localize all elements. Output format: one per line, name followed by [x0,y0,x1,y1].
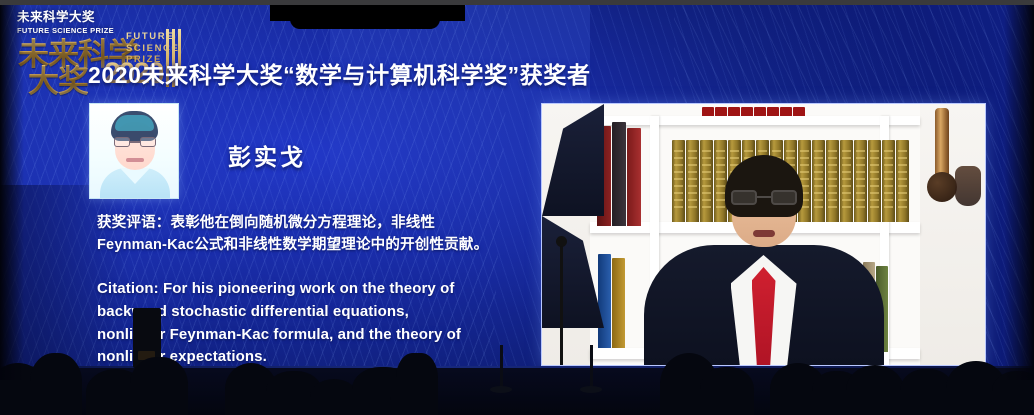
portrait-mouth [126,158,144,162]
floor-mic-stand-2 [590,345,593,391]
audience-silhouette [846,365,904,415]
speaker-mouth [753,230,775,237]
wall-lamp-icon [925,108,959,204]
lamp-base [927,172,957,202]
lamp-stem [935,108,949,178]
screen-top-bezel [0,0,1034,5]
citation-cn-line-1: 获奖评语：表彰他在倒向随机微分方程理论，非线性 [97,212,527,234]
citation-en-line-1: Citation: For his pioneering work on the… [97,278,527,301]
citation-block: 获奖评语：表彰他在倒向随机微分方程理论，非线性 Feynman-Kac公式和非线… [97,212,527,369]
vignette-right [1004,5,1034,380]
floor-mic-base-1 [490,386,512,393]
decorative-vase [955,166,981,206]
floor-mic-base-2 [580,386,602,393]
laureate-name: 彭实戈 [228,138,306,172]
speaker-glasses-icon [731,190,797,205]
books-top-red [702,107,805,116]
video-mic-head-icon [556,236,567,247]
books-lower-left [598,254,625,348]
audience-silhouette [30,353,82,415]
portrait-glasses-icon [114,137,156,147]
citation-cn-line-2: Feynman-Kac公式和非线性数学期望理论中的开创性贡献。 [97,234,527,256]
citation-en-line-3: nonlinear Feynman-Kac formula, and the t… [97,324,527,347]
logo-large-cn-line2: 大奖 [28,56,88,101]
page-title: 2020未来科学大奖“数学与计算机科学奖”获奖者 [88,56,591,90]
citation-chinese: 获奖评语：表彰他在倒向随机微分方程理论，非线性 Feynman-Kac公式和非线… [97,212,527,256]
floor-mic-stand-1 [500,345,503,391]
video-mic-stand [560,243,563,365]
audience-silhouette [130,357,188,415]
citation-english: Citation: For his pioneering work on the… [97,278,527,369]
audience-silhouette [310,379,358,415]
audience-silhouette [396,353,438,415]
overhead-truss-silhouette [270,5,465,21]
acceptance-speech-video-panel [541,103,986,366]
vignette-left [0,5,24,380]
audience-silhouette [700,367,754,415]
citation-en-line-2: backward stochastic differential equatio… [97,301,527,324]
laureate-portrait-photo [89,103,179,199]
logo-small-cn: 未来科学大奖 [17,10,95,24]
conference-stage-screen: 未来科学大奖 FUTURE SCIENCE PRIZE 未来科学 大奖 2020… [0,0,1034,415]
